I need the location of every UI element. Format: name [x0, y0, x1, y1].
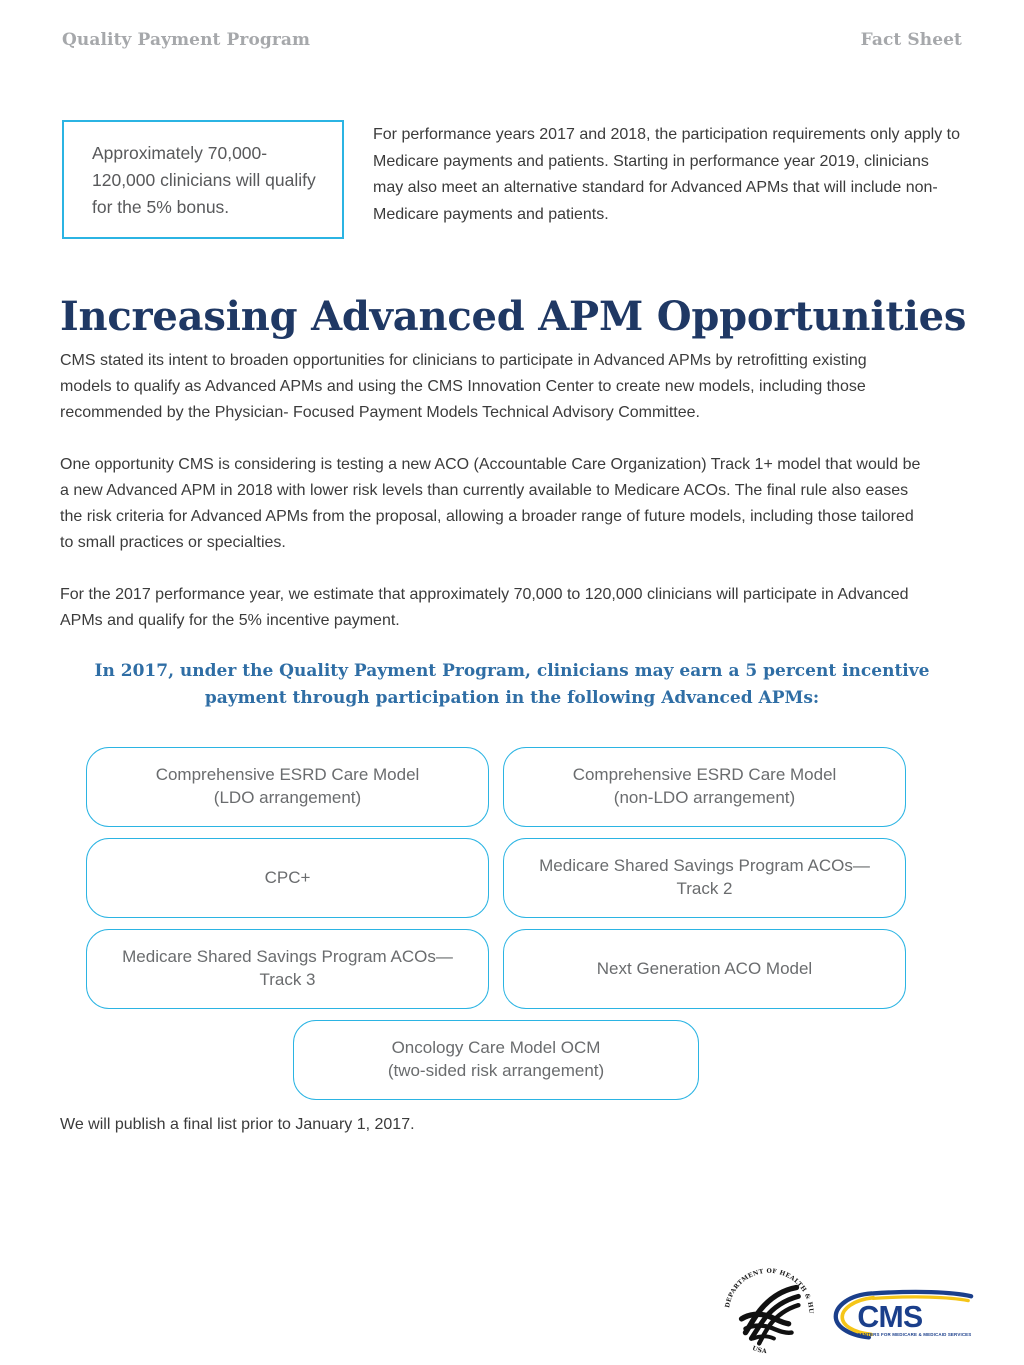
- body-content: CMS stated its intent to broaden opportu…: [60, 348, 922, 659]
- model-box-mssp-track-3: Medicare Shared Savings Program ACOs— Tr…: [86, 929, 489, 1009]
- model-box-next-gen-aco: Next Generation ACO Model: [503, 929, 906, 1009]
- model-row-4: Oncology Care Model OCM (two-sided risk …: [86, 1020, 906, 1100]
- model-box-esrd-non-ldo: Comprehensive ESRD Care Model (non-LDO a…: [503, 747, 906, 827]
- header-program-title: Quality Payment Program: [62, 30, 310, 50]
- document-header: Quality Payment Program Fact Sheet: [62, 30, 962, 60]
- svg-text:CMS: CMS: [857, 1301, 922, 1334]
- model-row-1: Comprehensive ESRD Care Model (LDO arran…: [86, 747, 906, 827]
- cms-tagline: CENTERS FOR MEDICARE & MEDICAID SERVICES: [857, 1332, 971, 1337]
- page-title: Increasing Advanced APM Opportunities: [60, 295, 966, 339]
- intro-paragraph: For performance years 2017 and 2018, the…: [373, 120, 962, 228]
- body-paragraph-2: One opportunity CMS is considering is te…: [60, 452, 922, 557]
- hhs-seal-icon: DEPARTMENT OF HEALTH & HUMAN SERVICES US…: [720, 1264, 818, 1362]
- model-box-oncology-care: Oncology Care Model OCM (two-sided risk …: [293, 1020, 699, 1100]
- model-box-cpc-plus: CPC+: [86, 838, 489, 918]
- svg-text:USA: USA: [751, 1345, 767, 1355]
- header-doc-type: Fact Sheet: [861, 30, 962, 50]
- footer-logos: DEPARTMENT OF HEALTH & HUMAN SERVICES US…: [712, 1262, 974, 1362]
- body-paragraph-3: For the 2017 performance year, we estima…: [60, 582, 922, 634]
- closing-note: We will publish a final list prior to Ja…: [60, 1112, 415, 1138]
- callout-box: Approximately 70,000-120,000 clinicians …: [62, 120, 344, 239]
- model-box-mssp-track-2: Medicare Shared Savings Program ACOs— Tr…: [503, 838, 906, 918]
- advanced-apm-model-list: Comprehensive ESRD Care Model (LDO arran…: [86, 747, 906, 1111]
- body-paragraph-1: CMS stated its intent to broaden opportu…: [60, 348, 922, 427]
- model-box-esrd-ldo: Comprehensive ESRD Care Model (LDO arran…: [86, 747, 489, 827]
- apm-list-subheading: In 2017, under the Quality Payment Progr…: [62, 658, 962, 712]
- cms-logo-icon: CMS CENTERS FOR MEDICARE & MEDICAID SERV…: [830, 1286, 974, 1344]
- intro-section: Approximately 70,000-120,000 clinicians …: [62, 120, 962, 239]
- model-row-3: Medicare Shared Savings Program ACOs— Tr…: [86, 929, 906, 1009]
- model-row-2: CPC+ Medicare Shared Savings Program ACO…: [86, 838, 906, 918]
- svg-text:DEPARTMENT OF HEALTH & HUMAN S: DEPARTMENT OF HEALTH & HUMAN SERVICES: [720, 1264, 814, 1314]
